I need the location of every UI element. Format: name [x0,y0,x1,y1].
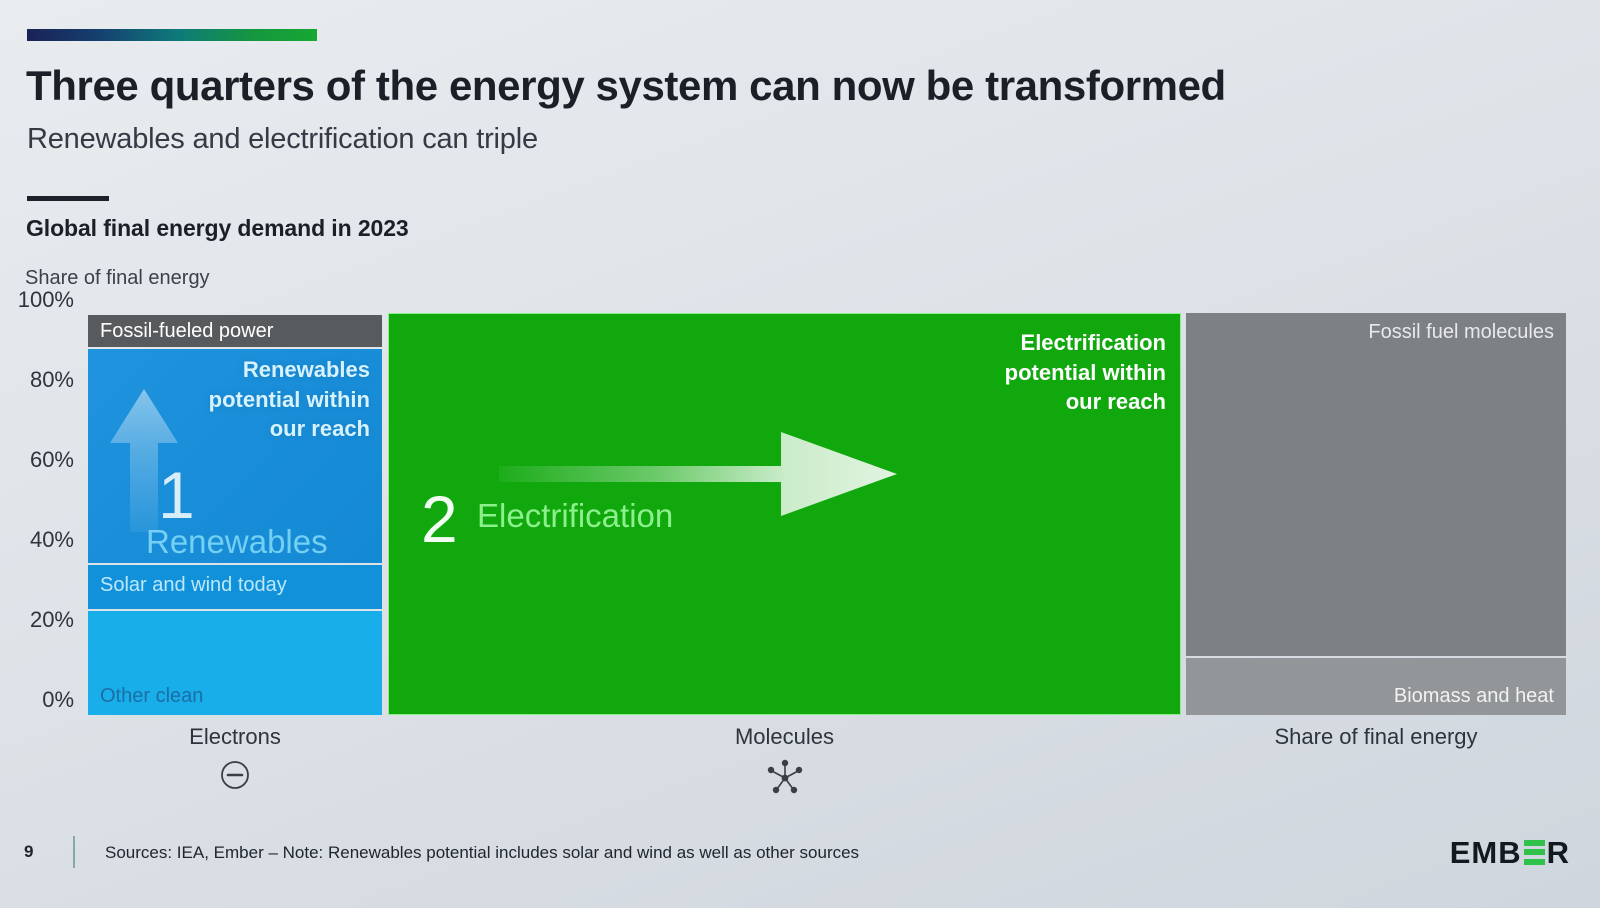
segment-renewables-potential: Renewables potential within our reach 1 … [88,349,382,563]
y-tick-100: 100% [18,287,74,313]
callout-line-1: Renewables [209,355,370,385]
ember-logo: EMB R [1450,834,1570,870]
footer-divider [73,836,75,868]
y-tick-80: 80% [30,367,74,393]
y-tick-60: 60% [30,447,74,473]
electron-icon-wrap [88,758,382,797]
footer-sources-note: Sources: IEA, Ember – Note: Renewables p… [105,843,859,863]
segment-biomass-and-heat: Biomass and heat [1186,658,1566,715]
column-share-of-final-energy: Fossil fuel molecules Biomass and heat [1186,313,1566,715]
step-number-1: 1 [158,462,195,528]
logo-accent-bars-icon [1524,840,1545,865]
callout-line-2: potential within [209,385,370,415]
molecule-icon [765,758,805,794]
electron-icon [218,758,252,792]
column-electrons: Fossil-fueled power Renewables potential… [88,315,382,715]
callout-line-2: potential within [1005,358,1166,388]
column-molecules: Electrification potential within our rea… [388,313,1181,715]
logo-text-right: R [1547,837,1570,868]
chart-title: Global final energy demand in 2023 [26,215,409,242]
y-tick-0: 0% [42,687,74,713]
segment-fossil-fueled-power: Fossil-fueled power [88,315,382,347]
x-label-electrons: Electrons [88,724,382,750]
page-number: 9 [24,842,33,862]
segment-label: Fossil fuel molecules [1368,319,1554,345]
x-label-share-of-final-energy: Share of final energy [1186,724,1566,750]
y-tick-20: 20% [30,607,74,633]
step-label-renewables: Renewables [146,525,328,558]
page-title: Three quarters of the energy system can … [26,62,1226,110]
callout-line-3: our reach [209,414,370,444]
logo-text-left: EMB [1450,837,1522,868]
callout-electrification: Electrification potential within our rea… [1005,328,1166,417]
x-label-molecules: Molecules [388,724,1181,750]
molecule-icon-wrap [388,758,1181,799]
callout-renewables: Renewables potential within our reach [209,355,370,444]
callout-line-3: our reach [1005,387,1166,417]
brand-accent-bar [27,29,317,41]
segment-label: Solar and wind today [100,574,287,597]
step-label-electrification: Electrification [477,499,673,532]
y-tick-40: 40% [30,527,74,553]
step-number-2: 2 [421,486,458,552]
section-rule [27,196,109,201]
segment-label: Biomass and heat [1394,685,1554,708]
callout-line-1: Electrification [1005,328,1166,358]
segment-solar-and-wind-today: Solar and wind today [88,565,382,609]
y-axis: 0% 20% 40% 60% 80% 100% [0,300,82,730]
page-subtitle: Renewables and electrification can tripl… [27,123,538,156]
segment-label: Fossil-fueled power [100,320,273,343]
segment-label: Other clean [100,685,203,708]
segment-fossil-fuel-molecules: Fossil fuel molecules [1186,313,1566,656]
segment-other-clean: Other clean [88,611,382,715]
